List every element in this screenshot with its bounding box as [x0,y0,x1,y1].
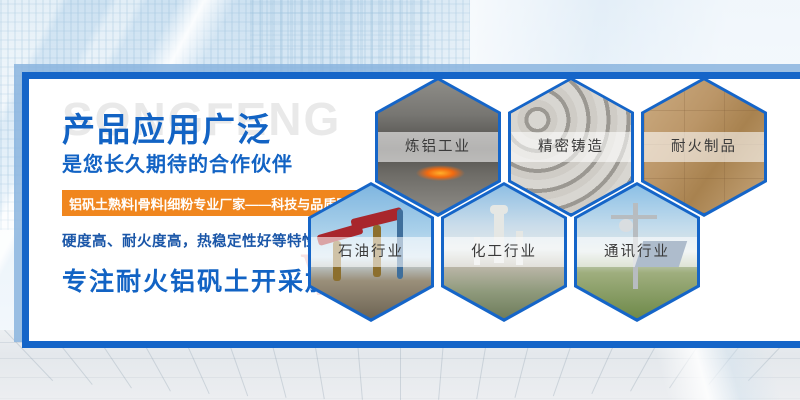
hex-label: 耐火制品 [644,132,764,162]
hex-image-clip: 石油行业 [311,185,431,318]
hex-label: 化工行业 [444,237,564,267]
hex-image-clip: 化工行业 [444,185,564,318]
subtitle: 是您长久期待的合作伙伴 [62,148,293,177]
hex-image-clip: 炼铝工业 [378,80,498,213]
banner-stage: SONGFENG 产品应用广泛 是您长久期待的合作伙伴 铝矾土熟料|骨料|细粉专… [0,0,800,400]
hex-label: 炼铝工业 [378,132,498,162]
hex-image-clip: 精密铸造 [511,80,631,213]
hex-label: 精密铸造 [511,132,631,162]
feature-list-text: 硬度高、耐火度高，热稳定性好等特性 [62,230,317,251]
hex-label: 通讯行业 [577,237,697,267]
hex-image-clip: 通讯行业 [577,185,697,318]
hex-image-clip: 耐火制品 [644,80,764,213]
page-title: 产品应用广泛 [62,103,272,151]
hex-label: 石油行业 [311,237,431,267]
